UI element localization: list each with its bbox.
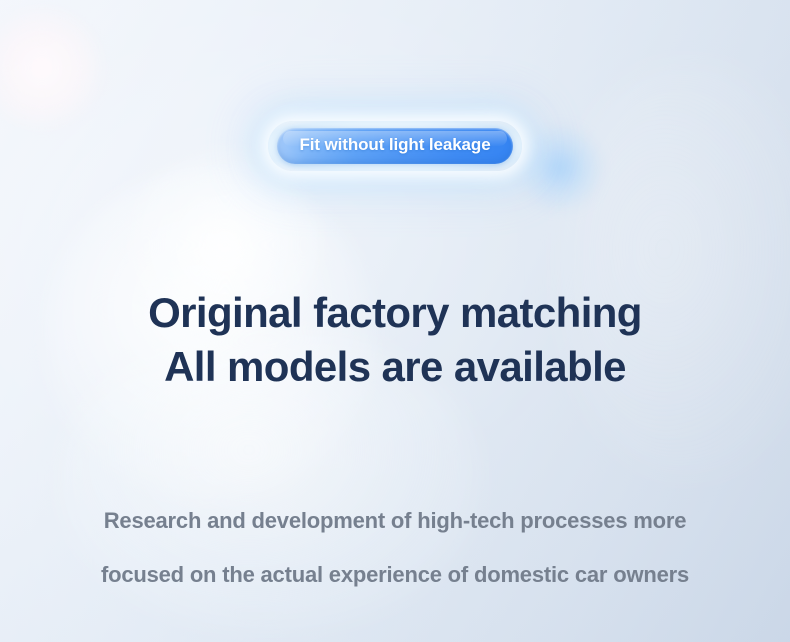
subtext-line-1: Research and development of high-tech pr… — [0, 494, 790, 548]
feature-badge-label: Fit without light leakage — [299, 135, 490, 155]
subtext-line-2: focused on the actual experience of dome… — [0, 548, 790, 602]
promo-banner: Fit without light leakage Original facto… — [0, 0, 790, 642]
feature-badge: Fit without light leakage — [277, 128, 512, 164]
headline-line-2: All models are available — [0, 340, 790, 394]
badge-glow-halo: Fit without light leakage — [268, 121, 521, 171]
page-subtitle: Research and development of high-tech pr… — [0, 494, 790, 602]
page-title: Original factory matching All models are… — [0, 286, 790, 394]
badge-container: Fit without light leakage — [0, 121, 790, 171]
headline-line-1: Original factory matching — [0, 286, 790, 340]
lens-flare-icon — [0, 8, 102, 128]
